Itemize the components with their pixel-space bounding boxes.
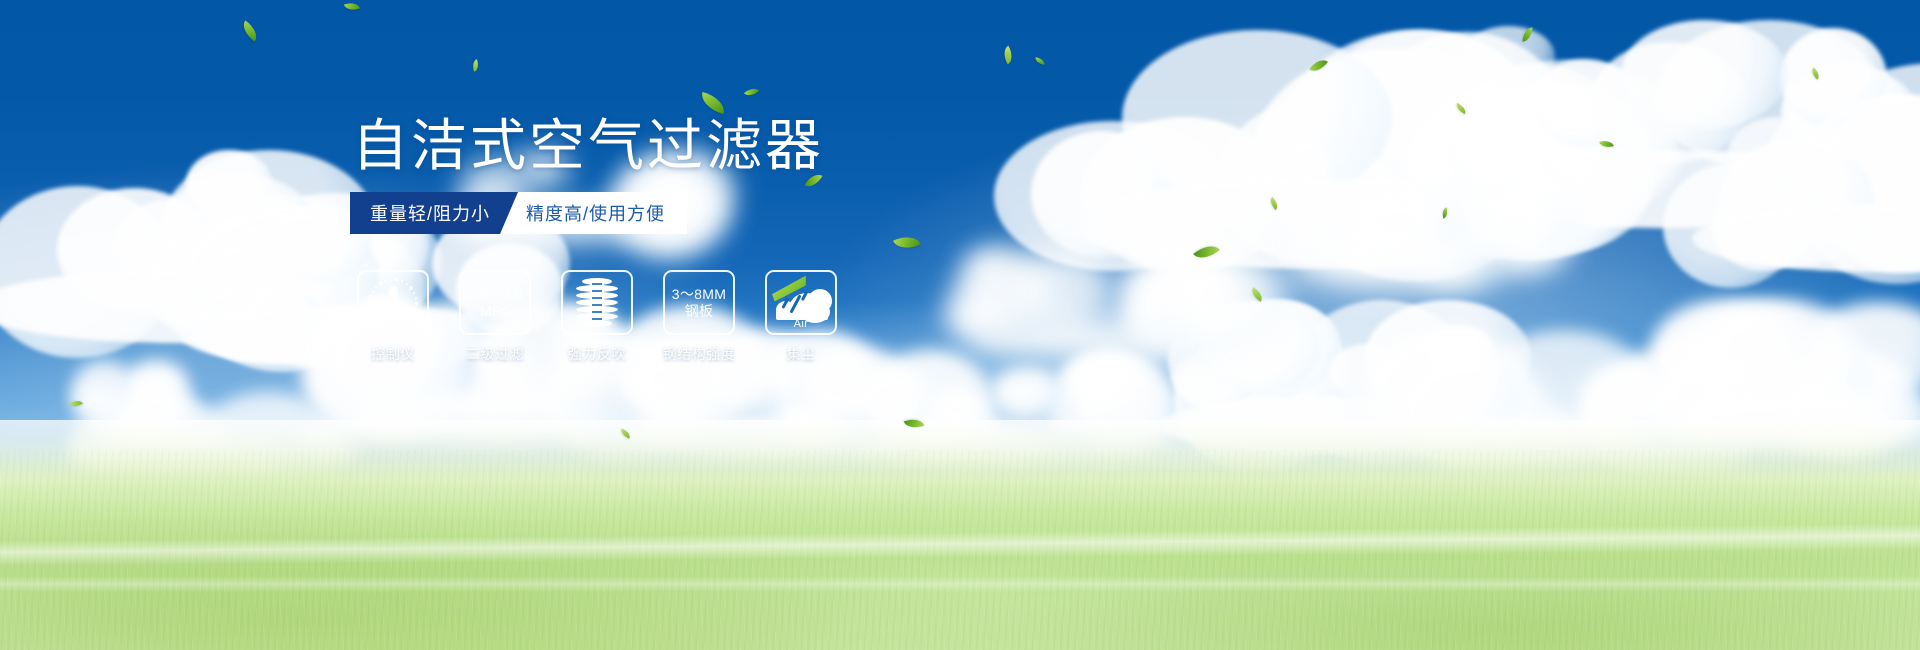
feature-box-control: NO OFF	[357, 270, 429, 335]
cartridge-slot	[592, 290, 602, 292]
pressure-value-icon: 0.6〜0.8 MPA	[467, 286, 522, 320]
feature-list: NO OFF 控制仪 0.6〜0.8 MPA 二级过滤	[357, 270, 837, 364]
feature-box-steel: 3〜8MM 钢板	[663, 270, 735, 335]
cartridge-slot	[592, 304, 602, 306]
steel-plate-icon: 3〜8MM 钢板	[672, 286, 726, 320]
feature-box-dust: Air	[765, 270, 837, 335]
feature-label-dust: 集尘	[786, 344, 815, 364]
cartridge-slot	[592, 297, 602, 299]
feature-box-filtration: 0.6〜0.8 MPA	[459, 270, 531, 335]
pressure-line-1: 0.6〜0.8	[467, 286, 522, 303]
product-banner: 自洁式空气过滤器 重量轻/阻力小 精度高/使用方便 NO OFF	[0, 0, 1920, 650]
cartridge-slot	[592, 283, 602, 285]
feature-label-steel: 钢结构强度	[663, 344, 736, 364]
badge-precision-convenience: 精度高/使用方便	[500, 192, 687, 234]
feature-item-control: NO OFF 控制仪	[357, 270, 429, 364]
gauge-label-off: OFF	[409, 317, 421, 323]
badge-precision-convenience-label: 精度高/使用方便	[526, 200, 665, 226]
badge-weight-resistance-label: 重量轻/阻力小	[370, 200, 490, 226]
feature-item-blowback: 强力反吹	[561, 270, 633, 364]
steel-line-2: 钢板	[672, 303, 726, 320]
feature-box-blowback	[561, 270, 633, 335]
air-cloud-icon: Air	[770, 277, 832, 329]
steel-line-1: 3〜8MM	[672, 286, 726, 303]
page-title: 自洁式空气过滤器	[352, 116, 824, 176]
feature-label-control: 控制仪	[371, 344, 415, 364]
feature-label-filtration: 二级过滤	[466, 344, 524, 364]
feature-item-filtration: 0.6〜0.8 MPA 二级过滤	[459, 270, 531, 364]
cloud-base	[776, 310, 828, 320]
gauge-label-no: NO	[365, 299, 374, 305]
badge-weight-resistance: 重量轻/阻力小	[350, 192, 518, 234]
feature-item-steel: 3〜8MM 钢板 钢结构强度	[663, 270, 735, 364]
tagline-badges: 重量轻/阻力小 精度高/使用方便	[350, 192, 687, 234]
banner-content: 自洁式空气过滤器 重量轻/阻力小 精度高/使用方便 NO OFF	[0, 0, 1920, 650]
pressure-line-2: MPA	[467, 303, 522, 320]
cartridge-slot	[592, 311, 602, 313]
cartridge-slot	[592, 318, 602, 320]
cartridge-disc	[582, 320, 612, 327]
gauge-dial-needle	[389, 286, 398, 320]
feature-item-dust: Air 集尘	[765, 270, 837, 364]
filter-cartridge-icon	[576, 278, 618, 328]
feature-label-blowback: 强力反吹	[568, 344, 626, 364]
gauge-dial-icon: NO OFF	[364, 277, 422, 329]
